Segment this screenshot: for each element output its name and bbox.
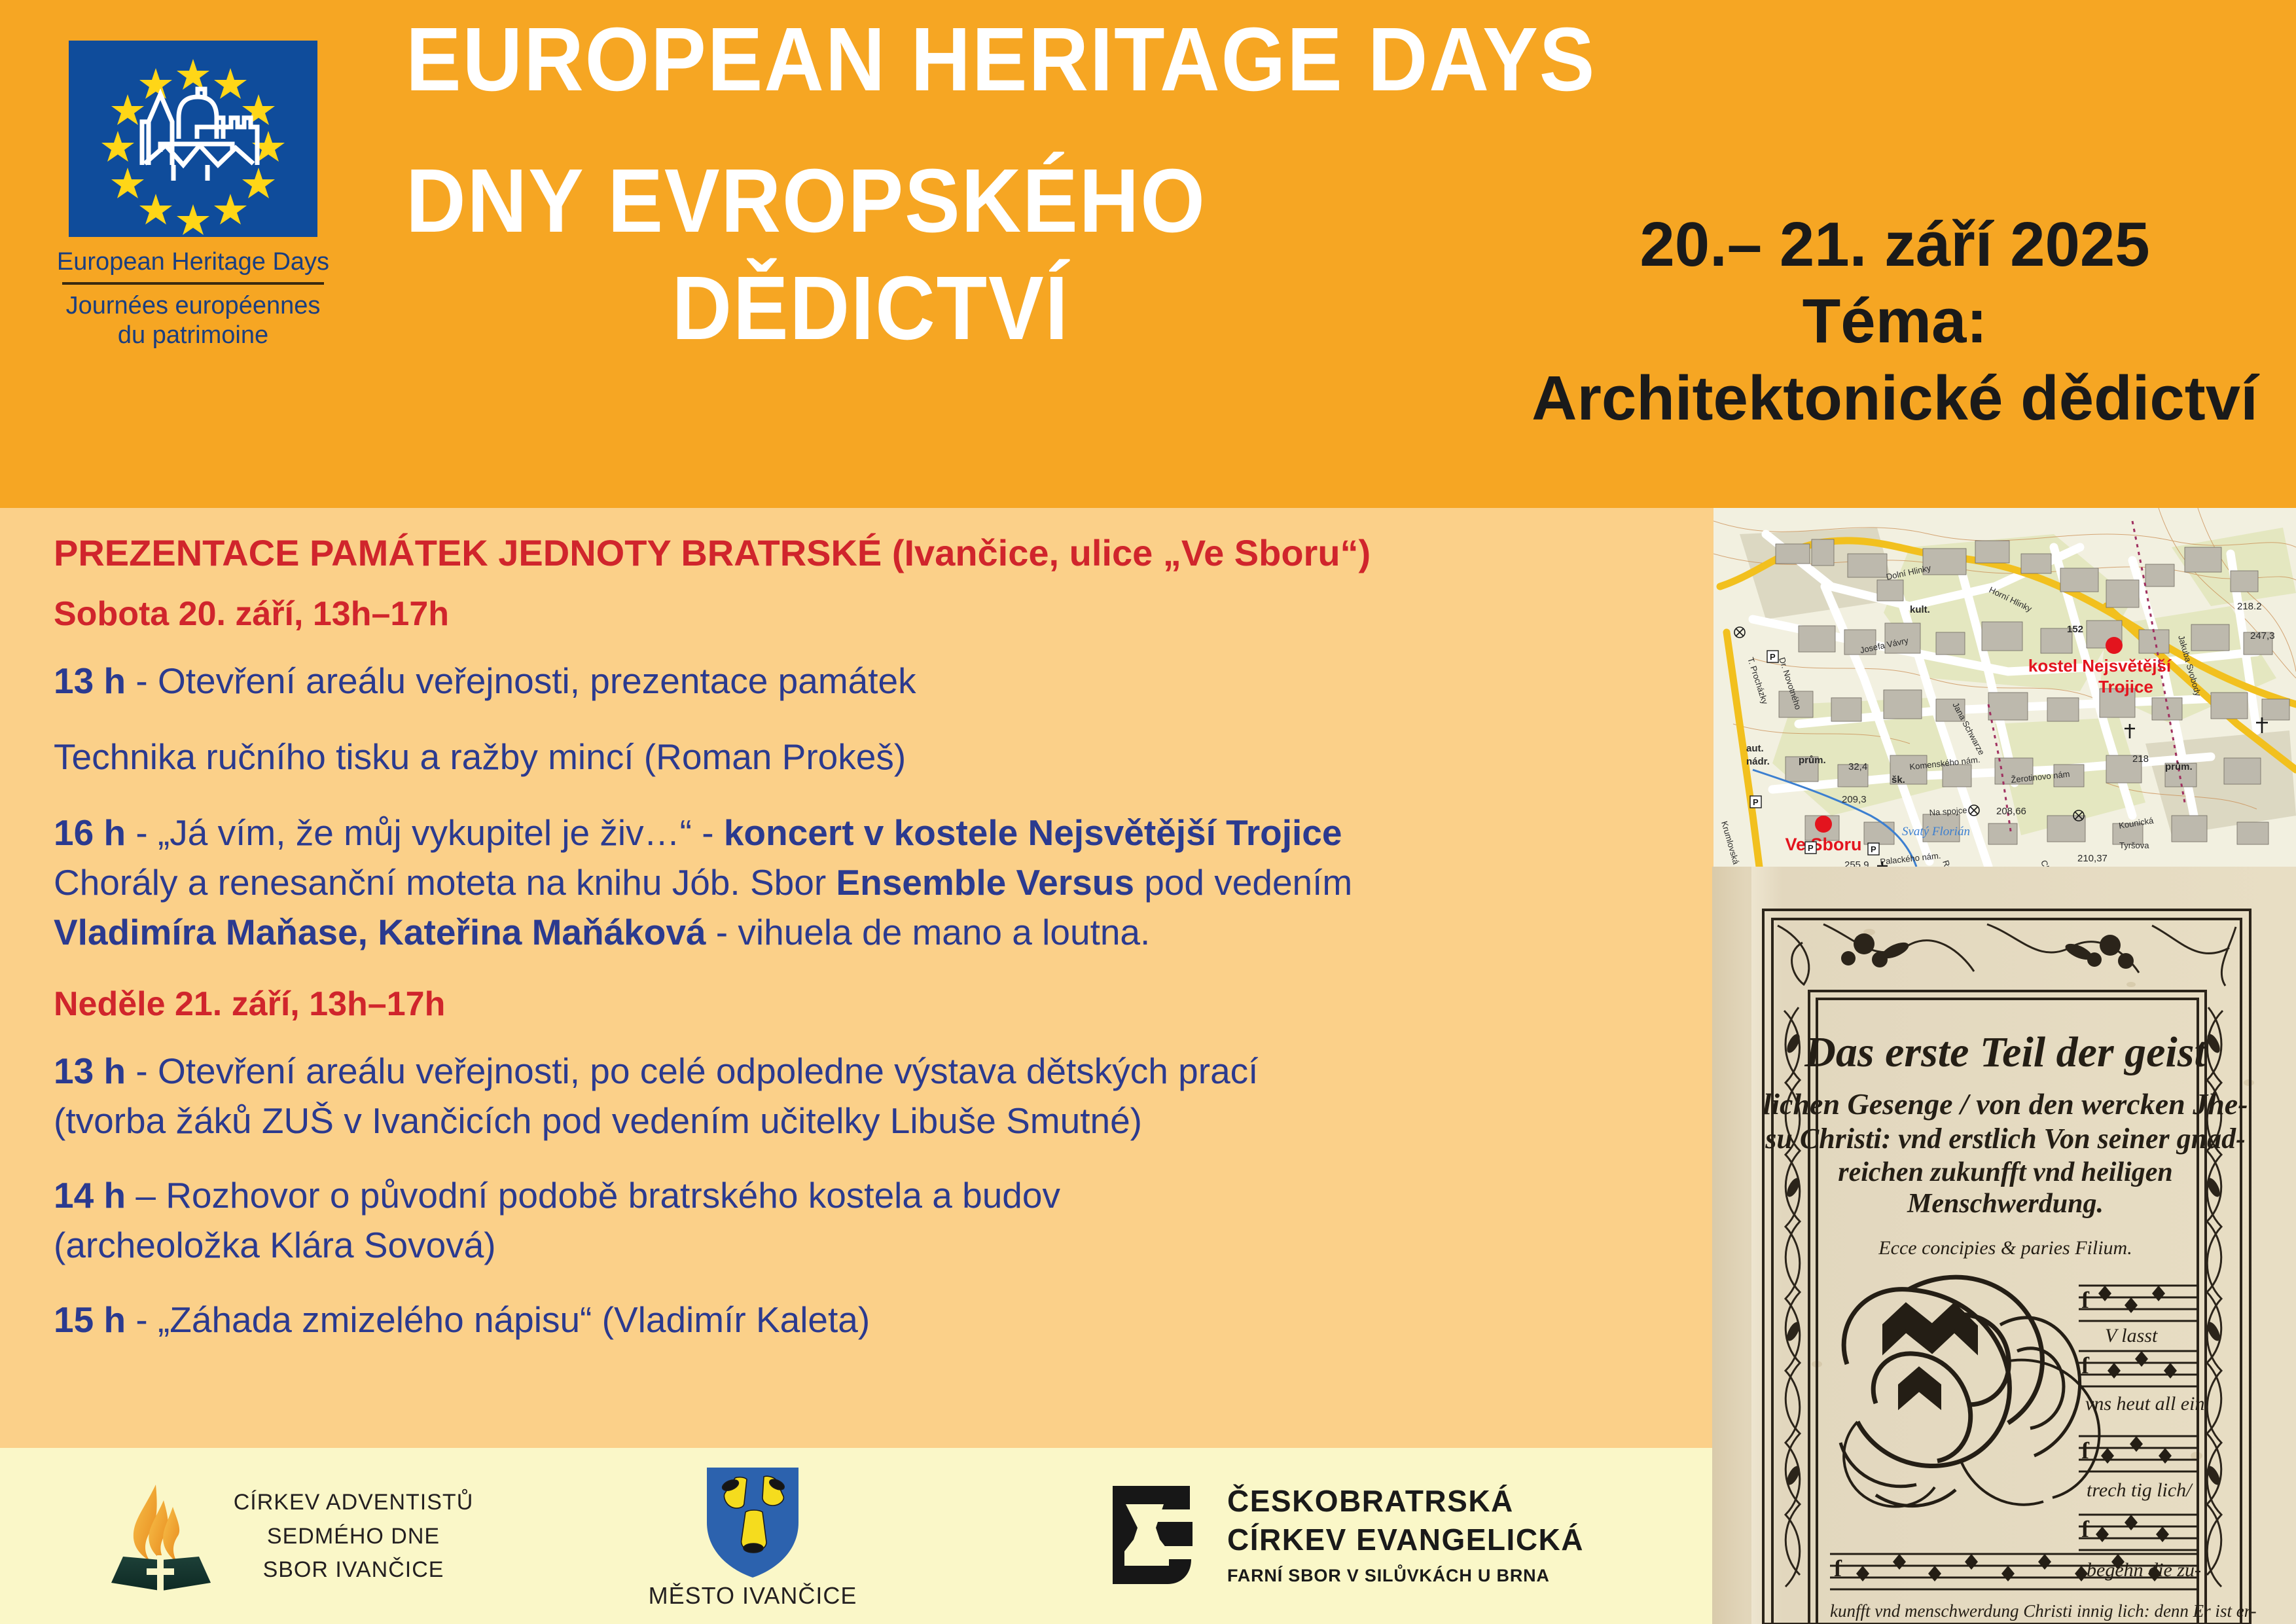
program-item-sat-16-line3: Vladimíra Maňase, Kateřina Maňáková - vi… [54,912,1677,952]
program-item-sat-technique: Technika ručního tisku a ražby mincí (Ro… [54,737,1677,777]
title-block: EUROPEAN HERITAGE DAYS DNY EVROPSKÉHO DĚ… [406,14,1518,353]
program-item-sat-16: 16 h - „Já vím, že můj vykupitel je živ…… [54,813,1677,853]
ehd-caption-fr1: Journées européennes [46,291,340,321]
svg-text:208,66: 208,66 [1996,806,2026,817]
print-lyric-3: trech tig lich/ [2087,1479,2193,1501]
cce-logo-text: ČESKOBRATRSKÁ CÍRKEV EVANGELICKÁ FARNÍ S… [1227,1482,1633,1586]
sunday-heading: Neděle 21. září, 13h–17h [54,984,1677,1024]
sat-13-text: - Otevření areálu veřejnosti, prezentace… [126,660,916,701]
event-meta: 20.– 21. září 2025 Téma: Architektonické… [1505,208,2284,435]
svg-text:P: P [1770,652,1776,662]
sun-15-text: - „Záhada zmizelého nápisu“ (Vladimír Ka… [126,1299,870,1340]
svg-text:f: f [1834,1555,1842,1581]
theme-label: Téma: [1505,285,2284,357]
print-lyric-4: begehn die zu- [2087,1559,2201,1581]
sat-16-text-b: koncert v kostele Nejsvětější Trojice [724,812,1342,853]
svg-text:32,4: 32,4 [1848,761,1867,772]
sat-13-time: 13 h [54,660,126,701]
svg-text:f: f [2081,1516,2090,1542]
event-date: 20.– 21. září 2025 [1505,208,2284,281]
ehd-logo-caption: European Heritage Days Journées européen… [46,247,340,350]
svg-text:P: P [1871,844,1876,854]
map-marker-sbor [1815,816,1832,833]
print-title-line2: lichen Gesenge / von den wercken Jhe- [1763,1087,2248,1121]
program-item-sun-14-line2: (archeoložka Klára Sovová) [54,1225,1677,1265]
sat-16-text-a: - „Já vím, že můj vykupitel je živ…“ - [126,812,724,853]
sun-14-time: 14 h [54,1175,126,1216]
svg-text:aut.: aut. [1746,743,1764,754]
sun-13-text: - Otevření areálu veřejnosti, po celé od… [126,1051,1258,1091]
ehd-caption-en: European Heritage Days [46,247,340,277]
sat-16-performers: Vladimíra Maňase, Kateřina Maňáková [54,912,706,952]
svg-text:prům.: prům. [2165,761,2193,772]
svg-text:Svatý Florián: Svatý Florián [1902,825,1970,839]
svg-text:nádr.: nádr. [1746,756,1770,767]
city-label: MĚSTO IVANČICE [602,1582,903,1610]
program-item-sun-14: 14 h – Rozhovor o původní podobě bratrsk… [54,1176,1677,1216]
print-lyric-1: V lasst [2105,1325,2158,1346]
ehd-caption-divider [62,282,324,285]
map-marker-church [2106,637,2123,654]
saturday-heading: Sobota 20. září, 13h–17h [54,594,1677,634]
svg-text:šk.: šk. [1892,774,1905,785]
print-bottom-line: kunfft vnd menschwerdung Christi innig l… [1830,1601,2257,1621]
title-czech-line2: DĚDICTVÍ [443,263,1298,353]
svg-text:kostel Nejsvětější: kostel Nejsvětější [2028,656,2172,676]
svg-text:Trojice: Trojice [2098,677,2153,696]
print-lyric-2: vns heut all ein [2085,1393,2204,1415]
svg-text:f: f [2081,1437,2090,1464]
cce-church-logo: ČESKOBRATRSKÁ CÍRKEV EVANGELICKÁ FARNÍ S… [1060,1448,1649,1624]
program-item-sat-13: 13 h - Otevření areálu veřejnosti, preze… [54,661,1677,701]
svg-text:P: P [1808,843,1814,853]
svg-text:f: f [2081,1287,2090,1313]
adventist-line1: CÍRKEV ADVENTISTŮ [223,1486,484,1520]
svg-text:209,3: 209,3 [1842,794,1867,805]
svg-text:prům.: prům. [1799,755,1826,766]
location-map[interactable]: kostel Nejsvětější Trojice Ve Sboru Doln… [1713,508,2296,867]
sun-14-text: – Rozhovor o původní podobě bratrského k… [126,1175,1060,1216]
eu-flag-emblem [69,41,317,237]
svg-text:152: 152 [2067,624,2083,635]
historic-hymnal-print[interactable]: Das erste Teil der geist lichen Gesenge … [1712,867,2296,1624]
title-english: EUROPEAN HERITAGE DAYS [406,14,1429,105]
title-czech-line1: DNY EVROPSKÉHO [406,156,1429,246]
flame-and-book-icon [98,1478,223,1596]
print-title-line3: su Christi: vnd erstlich Von seiner gnad… [1765,1123,2246,1155]
svg-text:210,37: 210,37 [2077,853,2108,864]
print-latin-line: Ecce concipies & paries Filium. [1878,1237,2132,1259]
ivancice-city-logo: MĚSTO IVANČICE [602,1448,956,1624]
adventist-line3: SBOR IVANČICE [223,1553,484,1587]
program-item-sat-16-line2: Chorály a renesanční moteta na knihu Jób… [54,863,1677,903]
svg-text:218: 218 [2132,753,2149,765]
sun-15-time: 15 h [54,1299,126,1340]
sat-16-time: 16 h [54,812,126,853]
ehd-logo: European Heritage Days Journées européen… [20,0,360,508]
adventist-logo-text: CÍRKEV ADVENTISTŮ SEDMÉHO DNE SBOR IVANČ… [223,1486,484,1587]
program-content: PREZENTACE PAMÁTEK JEDNOTY BRATRSKÉ (Iva… [0,508,1712,1448]
ehd-caption-fr2: du patrimoine [46,321,340,350]
sat-16-instruments: - vihuela de mano a loutna. [706,912,1151,952]
coat-of-arms-icon [704,1465,802,1579]
poster-root: European Heritage Days Journées européen… [0,0,2296,1624]
adventist-line2: SEDMÉHO DNE [223,1520,484,1554]
cce-line1: ČESKOBRATRSKÁ [1227,1482,1633,1521]
print-title-line5: Menschwerdung. [1907,1189,2104,1219]
svg-text:P: P [1753,797,1759,807]
header-band: European Heritage Days Journées européen… [0,0,2296,508]
sat-16-l2a: Chorály a renesanční moteta na knihu Jób… [54,862,836,903]
sun-13-time: 13 h [54,1051,126,1091]
svg-text:f: f [2081,1352,2090,1379]
cce-line3: FARNÍ SBOR V SILŮVKÁCH U BRNA [1227,1566,1633,1586]
print-title-line4: reichen zukunfft vnd heiligen [1838,1157,2172,1187]
cce-line2: CÍRKEV EVANGELICKÁ [1227,1521,1633,1559]
svg-text:kult.: kult. [1910,604,1930,615]
svg-text:Ve Sboru: Ve Sboru [1785,835,1861,854]
adventist-church-logo: CÍRKEV ADVENTISTŮ SEDMÉHO DNE SBOR IVANČ… [59,1448,478,1624]
chalice-icon [1113,1486,1211,1584]
svg-text:255,9: 255,9 [1844,859,1869,867]
program-item-sun-13-line2: (tvorba žáků ZUŠ v Ivančicích pod vedení… [54,1101,1677,1141]
svg-text:247,3: 247,3 [2250,630,2275,641]
program-main-heading: PREZENTACE PAMÁTEK JEDNOTY BRATRSKÉ (Iva… [54,532,1677,574]
sat-16-l2c: pod vedením [1134,862,1352,903]
program-item-sun-13: 13 h - Otevření areálu veřejnosti, po ce… [54,1051,1677,1091]
footer-band: CÍRKEV ADVENTISTŮ SEDMÉHO DNE SBOR IVANČ… [0,1448,1712,1624]
svg-text:218.2: 218.2 [2237,601,2262,612]
sat-16-ensemble: Ensemble Versus [836,862,1134,903]
print-title-line1: Das erste Teil der geist [1804,1028,2207,1076]
program-item-sun-15: 15 h - „Záhada zmizelého nápisu“ (Vladim… [54,1300,1677,1340]
svg-text:Tyršova: Tyršova [2119,840,2149,850]
theme-value: Architektonické dědictví [1505,362,2284,435]
